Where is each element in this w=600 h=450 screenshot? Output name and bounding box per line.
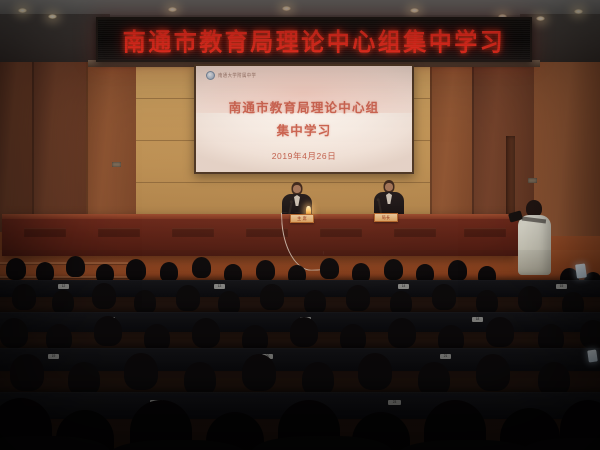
seat-number-plate: 14	[398, 284, 409, 289]
audience-head	[124, 353, 158, 390]
projection-screen-frame: 南通大学附属中学 南通市教育局理论中心组 集中学习 2019年4月26日	[194, 64, 414, 174]
school-emblem-icon	[206, 71, 215, 80]
seat-number: 14	[402, 285, 406, 288]
audience-head	[358, 353, 392, 390]
audience-head	[580, 320, 600, 348]
ceiling-band	[0, 0, 600, 15]
audience-head	[126, 259, 146, 281]
audience-head	[6, 258, 26, 280]
audience-head	[94, 316, 122, 346]
seat-number: 19	[52, 355, 56, 358]
slide-title-line2: 集中学习	[196, 120, 412, 139]
audience-head	[346, 285, 370, 311]
conference-hall-photo: 南通市教育局理论中心组集中学习 南通大学附属中学 南通市教育局理论中心组 集中学…	[0, 0, 600, 450]
nameplate-right: 局长	[374, 213, 398, 222]
audience-head	[0, 318, 28, 348]
seat-number: 12	[62, 285, 66, 288]
audience-head	[260, 284, 284, 310]
ceiling-spotlight	[410, 8, 419, 13]
audience-head	[384, 259, 403, 280]
audience-head	[68, 362, 100, 396]
ceiling-spotlight	[536, 16, 545, 21]
seat-number: 13	[218, 285, 222, 288]
audience-head	[486, 317, 514, 347]
projection-screen: 南通大学附属中学 南通市教育局理论中心组 集中学习 2019年4月26日	[196, 66, 412, 172]
seat-number-plate: 19	[48, 354, 59, 359]
seat-number-plate: 12	[58, 284, 69, 289]
led-banner-text: 南通市教育局理论中心组集中学习	[123, 21, 506, 57]
audience-seating: 12 13 14 15 16 17 18	[0, 250, 600, 450]
phone-screen	[587, 349, 598, 362]
audience-head	[160, 262, 178, 282]
slide-logo: 南通大学附属中学	[206, 71, 256, 80]
slide-title-line1: 南通市教育局理论中心组	[196, 97, 412, 116]
ceiling-soffit-left	[0, 14, 110, 62]
audience-head	[418, 362, 450, 396]
seat-number-plate: 13	[214, 284, 225, 289]
face	[385, 183, 393, 191]
audience-head	[192, 318, 220, 348]
audience-head	[242, 354, 276, 391]
audience-head	[192, 257, 211, 278]
seat-number-plate: 18	[472, 317, 483, 322]
seat-number-plate: 23	[388, 400, 401, 405]
ceiling-spotlight	[574, 9, 583, 14]
wall-outlet-plate	[528, 178, 537, 183]
audience-head	[184, 362, 216, 396]
audience-head	[134, 290, 156, 314]
audience-head	[320, 258, 339, 279]
audience-head	[12, 284, 36, 310]
audience-head	[66, 256, 85, 277]
audience-head	[256, 260, 275, 281]
face	[293, 185, 301, 193]
audience-head	[476, 290, 498, 314]
led-banner: 南通市教育局理论中心组集中学习	[96, 17, 532, 62]
ceiling-spotlight	[282, 6, 291, 11]
slide-logo-text: 南通大学附属中学	[218, 72, 256, 79]
ceiling-soffit-right	[520, 14, 600, 62]
seat-number: 21	[444, 355, 448, 358]
seat-number: 23	[393, 401, 397, 404]
seat-row	[0, 280, 600, 297]
head-table-top	[2, 214, 518, 219]
audience-head	[10, 354, 44, 391]
audience-head	[476, 354, 510, 391]
audience-head	[176, 285, 200, 311]
audience-head	[518, 286, 542, 312]
wall-outlet-plate	[112, 162, 121, 167]
audience-head	[448, 260, 467, 281]
slide-date: 2019年4月26日	[196, 150, 412, 162]
audience-head	[92, 283, 116, 309]
phone-screen	[575, 263, 587, 278]
seat-number-plate: 15	[556, 284, 567, 289]
audience-head	[432, 284, 456, 310]
audience-head	[290, 317, 318, 347]
seat-number: 15	[560, 285, 564, 288]
ceiling-spotlight	[18, 8, 27, 13]
audience-head	[36, 262, 54, 282]
ceiling-spotlight	[48, 14, 57, 19]
audience-head	[388, 318, 416, 348]
nameplate-right-text: 局长	[382, 214, 390, 221]
seat-number-plate: 21	[440, 354, 451, 359]
audience-head	[302, 362, 334, 396]
audience-head	[52, 290, 74, 314]
audience-head	[538, 362, 570, 396]
ceiling-spotlight	[168, 7, 177, 12]
seat-number: 18	[476, 318, 480, 321]
audience-head	[304, 290, 326, 314]
